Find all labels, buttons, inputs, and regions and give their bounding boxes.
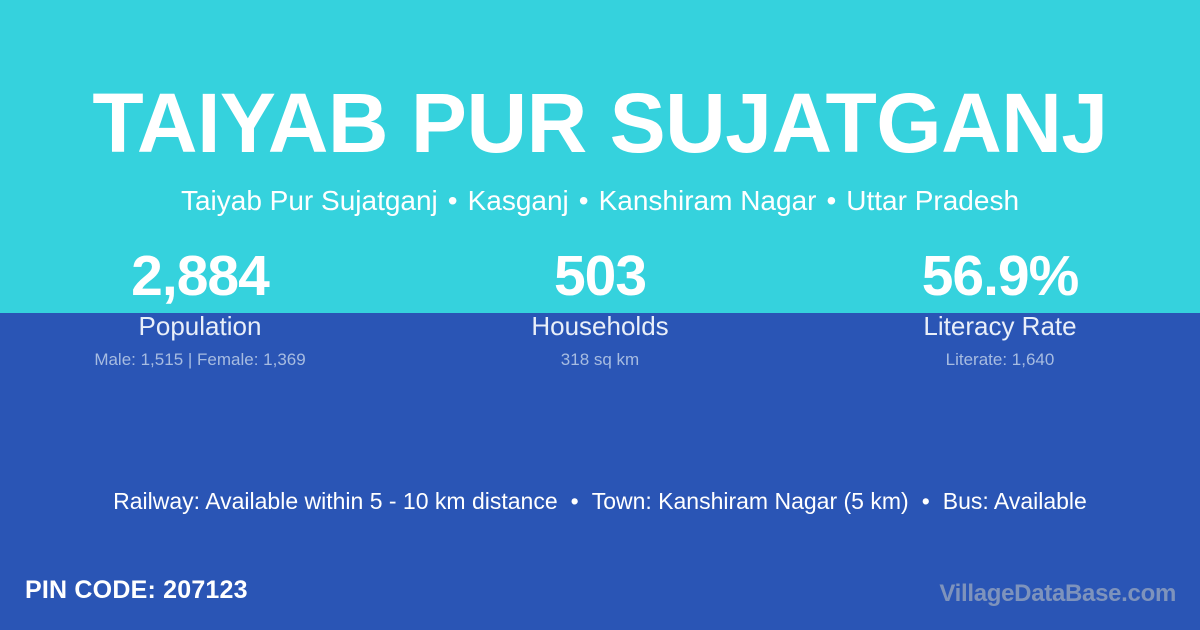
statistics-row: 2,884 Population Male: 1,515 | Female: 1… — [0, 245, 1200, 370]
breadcrumb-separator-3: • — [816, 183, 846, 219]
breadcrumb-village: Taiyab Pur Sujatganj — [181, 185, 438, 216]
stat-value: 2,884 — [0, 245, 400, 307]
stat-households: 503 Households 318 sq km — [400, 245, 800, 370]
breadcrumb-block: Kasganj — [468, 185, 569, 216]
site-branding: VillageDataBase.com — [939, 580, 1176, 608]
infra-town: Town: Kanshiram Nagar (5 km) — [592, 488, 909, 514]
breadcrumb-separator-2: • — [569, 183, 599, 219]
pin-code: PIN CODE: 207123 — [25, 575, 248, 605]
stat-population: 2,884 Population Male: 1,515 | Female: 1… — [0, 245, 400, 370]
breadcrumb-district: Kanshiram Nagar — [599, 185, 817, 216]
infra-railway: Railway: Available within 5 - 10 km dist… — [113, 488, 557, 514]
stat-literacy-rate: 56.9% Literacy Rate Literate: 1,640 — [800, 245, 1200, 370]
breadcrumb: Taiyab Pur Sujatganj•Kasganj•Kanshiram N… — [0, 183, 1200, 219]
infrastructure-summary: Railway: Available within 5 - 10 km dist… — [0, 486, 1200, 516]
stat-label: Households — [400, 311, 800, 341]
breadcrumb-state: Uttar Pradesh — [846, 185, 1019, 216]
infra-separator-1: • — [558, 486, 592, 516]
stat-label: Population — [0, 311, 400, 341]
infra-separator-2: • — [909, 486, 943, 516]
stat-sublabel: Male: 1,515 | Female: 1,369 — [0, 350, 400, 370]
village-info-card: TAIYAB PUR SUJATGANJ Taiyab Pur Sujatgan… — [0, 0, 1200, 630]
stat-value: 503 — [400, 245, 800, 307]
stat-sublabel: 318 sq km — [400, 350, 800, 370]
stat-value: 56.9% — [800, 245, 1200, 307]
stat-label: Literacy Rate — [800, 311, 1200, 341]
infra-bus: Bus: Available — [943, 488, 1087, 514]
stat-sublabel: Literate: 1,640 — [800, 350, 1200, 370]
breadcrumb-separator-1: • — [438, 183, 468, 219]
page-title: TAIYAB PUR SUJATGANJ — [0, 78, 1200, 168]
